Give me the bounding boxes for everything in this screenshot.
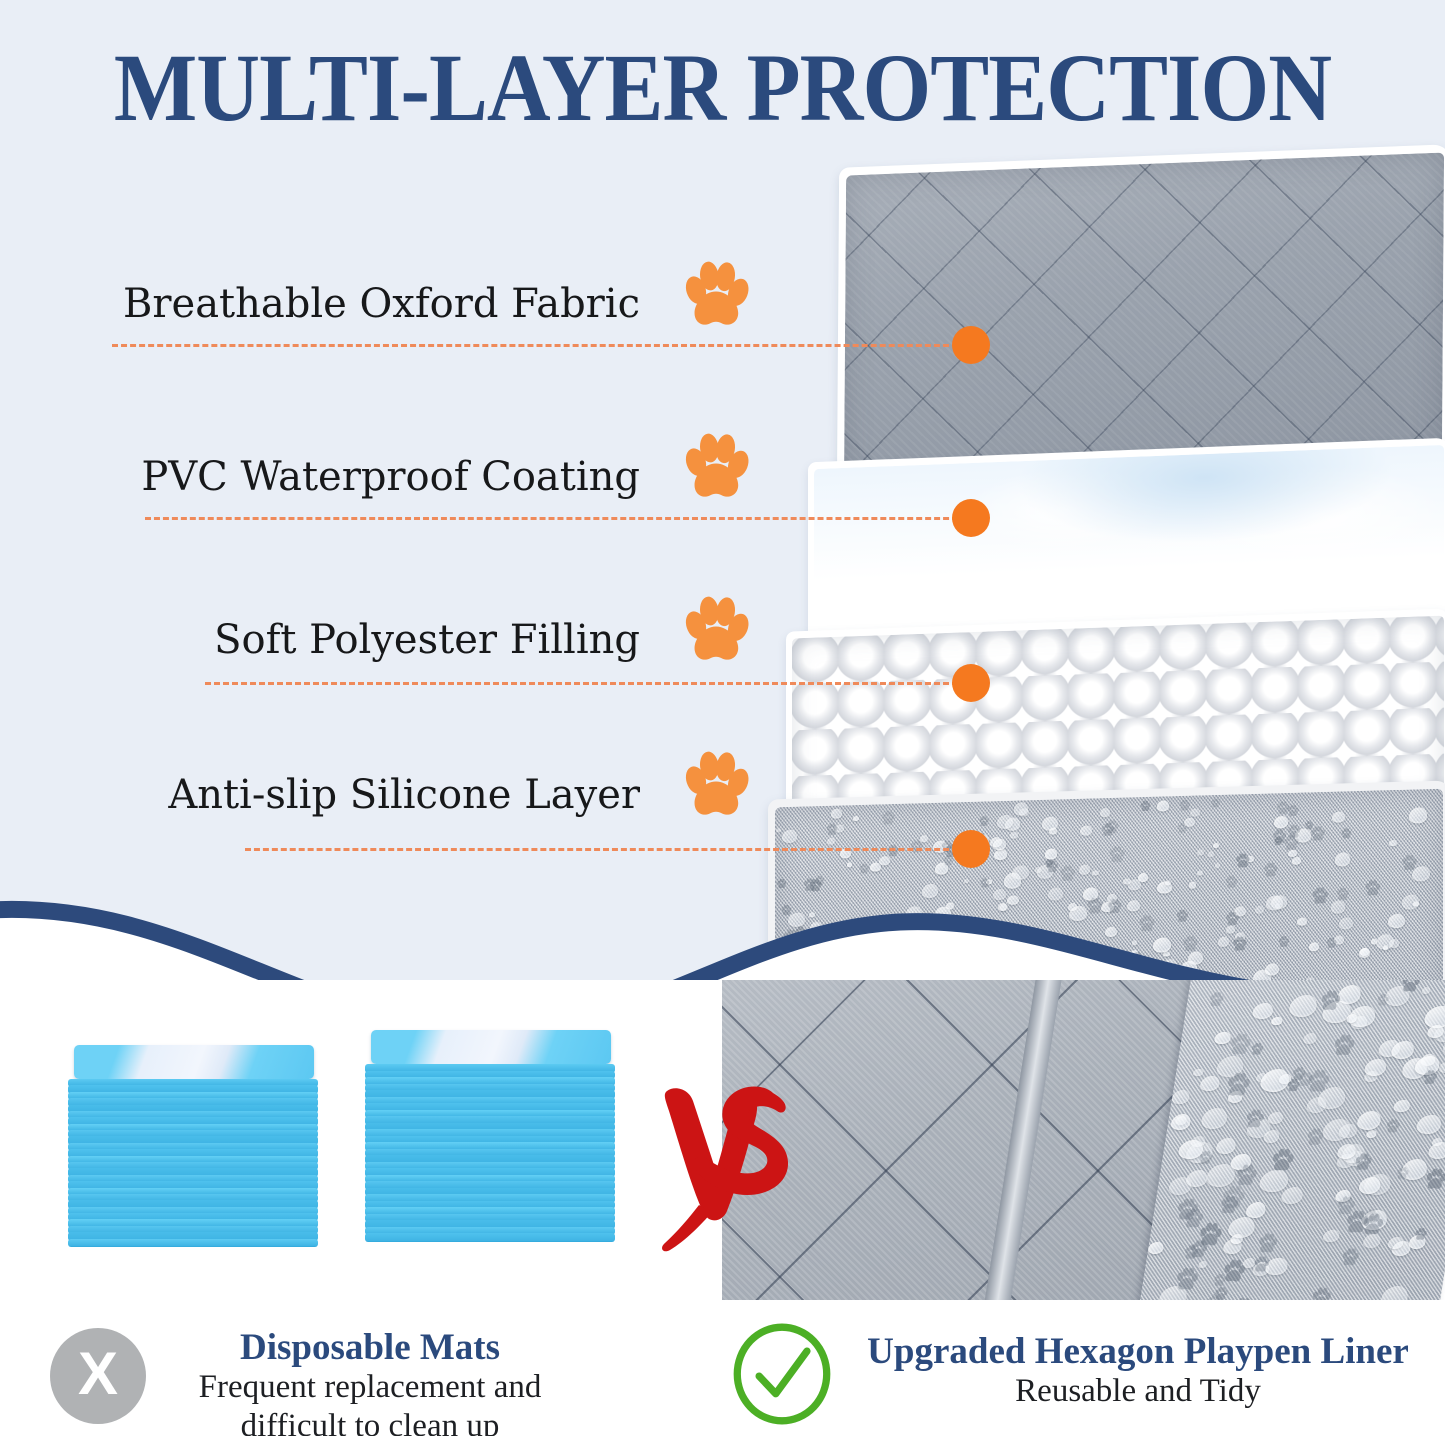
water-droplet bbox=[1365, 1130, 1376, 1138]
water-droplet bbox=[1245, 1202, 1266, 1217]
silicone-paw-dot bbox=[1333, 1195, 1358, 1217]
silicone-paw-dot bbox=[1172, 1266, 1203, 1293]
water-droplet bbox=[1380, 1286, 1410, 1300]
silicone-paw-dot bbox=[1273, 836, 1283, 846]
right-caption-title: Upgraded Hexagon Playpen Liner bbox=[848, 1332, 1428, 1372]
right-caption-subtitle-line1: Reusable and Tidy bbox=[848, 1372, 1428, 1411]
silicone-paw-dot bbox=[1249, 1042, 1266, 1056]
silicone-paw-dot bbox=[1316, 989, 1344, 1013]
water-droplet bbox=[847, 862, 853, 867]
layered-mat-illustration bbox=[760, 150, 1445, 980]
water-droplet bbox=[1428, 1142, 1445, 1159]
paw-icon bbox=[679, 594, 753, 668]
page-title: MULTI-LAYER PROTECTION bbox=[58, 40, 1387, 136]
silicone-paw-dot bbox=[1375, 993, 1392, 1007]
silicone-paw-dot bbox=[1232, 1163, 1261, 1188]
leader-line-4 bbox=[245, 848, 967, 851]
silicone-paw-dot bbox=[1412, 1227, 1429, 1241]
pad-stack-left bbox=[68, 1045, 318, 1245]
feature-label-3: Soft Polyester Filling bbox=[90, 617, 640, 663]
water-droplet bbox=[782, 830, 797, 843]
silicone-paw-dot bbox=[1351, 1152, 1374, 1172]
silicone-paw-dot bbox=[880, 810, 896, 827]
left-caption-subtitle-line1: Frequent replacement and bbox=[160, 1368, 580, 1407]
leader-line-3 bbox=[205, 682, 967, 685]
water-droplet bbox=[827, 837, 836, 844]
silicone-paw-dot bbox=[1221, 1071, 1253, 1099]
water-droplet bbox=[993, 839, 1005, 850]
check-circle-icon bbox=[730, 1322, 834, 1426]
orange-dot-4 bbox=[952, 830, 990, 868]
water-droplet bbox=[1215, 863, 1220, 868]
pad-top-sheet bbox=[74, 1045, 314, 1079]
silicone-paw-dot bbox=[1339, 1247, 1363, 1268]
infographic-canvas: MULTI-LAYER PROTECTION Breathable Oxford… bbox=[0, 0, 1445, 1436]
water-droplet bbox=[1193, 1069, 1203, 1077]
water-droplet bbox=[1168, 1177, 1193, 1195]
silicone-paw-dot bbox=[1172, 1197, 1202, 1223]
right-caption: Upgraded Hexagon Playpen Liner Reusable … bbox=[848, 1332, 1428, 1411]
leader-line-2 bbox=[145, 517, 967, 520]
silicone-paw-dot bbox=[1361, 1208, 1381, 1225]
pad-stack-right bbox=[365, 1030, 615, 1240]
disposable-pads-photo bbox=[0, 980, 722, 1300]
silicone-paw-dot bbox=[1329, 1033, 1358, 1058]
hexagon-liner-photo bbox=[722, 980, 1445, 1300]
water-droplet bbox=[1393, 1100, 1410, 1113]
water-droplet bbox=[1100, 808, 1111, 817]
silicone-paw-dot bbox=[1303, 1068, 1334, 1095]
water-droplet bbox=[1199, 1076, 1220, 1091]
leader-line-1 bbox=[112, 344, 967, 347]
left-caption: Disposable Mats Frequent replacement and… bbox=[160, 1328, 580, 1436]
silicone-paw-dot bbox=[1422, 1167, 1445, 1192]
silicone-paw-dot bbox=[1303, 1127, 1327, 1147]
water-droplet bbox=[1292, 857, 1301, 865]
orange-dot-2 bbox=[952, 499, 990, 537]
water-droplet bbox=[1147, 1242, 1164, 1254]
silicone-paw-dot bbox=[978, 815, 990, 827]
water-droplet bbox=[1302, 1033, 1317, 1044]
water-droplet bbox=[1335, 853, 1351, 867]
feature-label-1: Breathable Oxford Fabric bbox=[90, 281, 640, 327]
water-droplet bbox=[1332, 811, 1346, 823]
water-droplet bbox=[1014, 803, 1028, 816]
silicone-paw-dot bbox=[1100, 822, 1116, 838]
silicone-paw-dot bbox=[1285, 1078, 1302, 1093]
water-droplet bbox=[1215, 1138, 1237, 1154]
water-droplet bbox=[1049, 827, 1057, 834]
silicone-paw-dot bbox=[1196, 1150, 1214, 1166]
water-droplet bbox=[1356, 1111, 1382, 1130]
water-droplet bbox=[1170, 1114, 1192, 1130]
silicone-paw-dot bbox=[1308, 1286, 1335, 1300]
water-droplet bbox=[1197, 849, 1204, 855]
water-droplet bbox=[1171, 1090, 1190, 1104]
water-droplet bbox=[1389, 840, 1397, 847]
silicone-paw-dot bbox=[1420, 1069, 1440, 1086]
silicone-paw-dot bbox=[1211, 1273, 1228, 1288]
vs-badge bbox=[655, 1075, 795, 1255]
x-glyph: X bbox=[78, 1344, 118, 1404]
orange-dot-1 bbox=[952, 326, 990, 364]
water-droplet bbox=[1268, 1112, 1284, 1124]
multi-layer-section: MULTI-LAYER PROTECTION Breathable Oxford… bbox=[0, 0, 1445, 1010]
silicone-paw-dot bbox=[1217, 1184, 1249, 1212]
silicone-paw-dot bbox=[1242, 1108, 1267, 1130]
silicone-paw-dot bbox=[1176, 822, 1188, 835]
silicone-paw-dot bbox=[1286, 804, 1300, 818]
pad-sheet bbox=[68, 1239, 318, 1247]
water-droplet bbox=[1208, 851, 1215, 857]
water-droplet bbox=[1080, 825, 1092, 836]
water-droplet bbox=[1213, 843, 1219, 848]
silicone-paw-dot bbox=[1206, 991, 1226, 1008]
silicone-paw-dot bbox=[1340, 827, 1352, 840]
left-caption-subtitle-line2: difficult to clean up bbox=[160, 1407, 580, 1436]
silicone-paw-dot bbox=[1178, 799, 1191, 813]
water-droplet bbox=[1252, 1003, 1274, 1019]
silicone-paw-dot bbox=[1210, 797, 1221, 808]
orange-dot-3 bbox=[952, 664, 990, 702]
silicone-paw-dot bbox=[1234, 852, 1251, 870]
water-droplet bbox=[853, 816, 860, 822]
water-droplet bbox=[1190, 809, 1199, 817]
water-droplet bbox=[1263, 1130, 1280, 1143]
water-droplet bbox=[997, 815, 1013, 829]
water-droplet bbox=[776, 828, 781, 833]
water-droplet bbox=[1010, 832, 1018, 839]
silicone-paw-dot bbox=[1205, 1293, 1225, 1300]
water-droplet bbox=[1259, 1170, 1290, 1192]
pad-top-sheet bbox=[371, 1030, 611, 1064]
water-droplet bbox=[994, 849, 1007, 860]
silicone-paw-dot bbox=[1394, 1166, 1411, 1181]
silicone-paw-dot bbox=[1044, 859, 1054, 869]
feature-label-2: PVC Waterproof Coating bbox=[90, 454, 640, 500]
silicone-paw-dot bbox=[1309, 825, 1327, 843]
silicone-paw-dot bbox=[1383, 1118, 1402, 1134]
feature-label-4: Anti-slip Silicone Layer bbox=[90, 772, 640, 818]
silicone-paw-dot bbox=[1255, 1232, 1282, 1255]
paw-icon bbox=[679, 749, 753, 823]
silicone-paw-dot bbox=[1250, 1255, 1272, 1274]
water-droplet bbox=[1288, 995, 1319, 1017]
water-droplet bbox=[1409, 808, 1427, 824]
water-droplet bbox=[1045, 848, 1058, 859]
silicone-paw-dot bbox=[1441, 980, 1445, 990]
water-droplet bbox=[1271, 1017, 1283, 1026]
water-droplet bbox=[1364, 1059, 1388, 1076]
left-caption-title: Disposable Mats bbox=[160, 1328, 580, 1368]
water-droplet bbox=[1323, 1230, 1340, 1243]
silicone-paw-dot bbox=[1107, 845, 1127, 865]
paw-icon bbox=[679, 259, 753, 333]
x-circle-icon: X bbox=[50, 1328, 146, 1424]
silicone-paw-dot bbox=[1397, 980, 1423, 994]
water-droplet bbox=[1200, 1108, 1229, 1129]
silicone-paw-dot bbox=[1282, 833, 1300, 852]
silicone-paw-dot bbox=[1226, 1296, 1258, 1300]
paw-icon bbox=[679, 431, 753, 505]
water-droplet bbox=[1280, 1187, 1304, 1204]
silicone-paw-dot bbox=[1195, 1221, 1227, 1249]
silicone-paw-dot bbox=[1267, 1147, 1298, 1174]
water-droplet bbox=[1416, 1115, 1443, 1134]
silicone-paw-dot bbox=[1139, 800, 1152, 813]
water-droplet bbox=[831, 809, 842, 818]
silicone-paw-dot bbox=[825, 823, 839, 837]
water-droplet bbox=[1157, 801, 1169, 811]
water-droplet bbox=[1422, 987, 1431, 994]
pad-sheet bbox=[365, 1233, 615, 1242]
